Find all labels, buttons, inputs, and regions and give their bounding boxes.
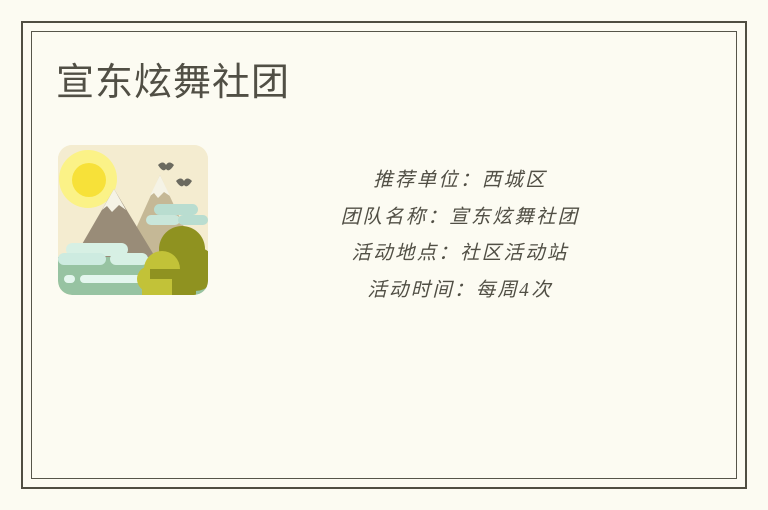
- page-title: 宣东炫舞社团: [56, 57, 290, 109]
- cloud-shape: [178, 215, 208, 225]
- cloud-shape: [146, 215, 180, 225]
- detail-recommending-unit: 推荐单位：西城区: [230, 163, 690, 200]
- mountain-landscape-illustration: [58, 145, 208, 295]
- foam-shape: [110, 253, 148, 265]
- detail-team-name: 团队名称：宣东炫舞社团: [230, 200, 690, 237]
- page-root: 宣东炫舞社团: [0, 0, 768, 510]
- landscape-illustration-svg: [58, 145, 208, 295]
- details-list: 推荐单位：西城区 团队名称：宣东炫舞社团 活动地点：社区活动站 活动时间：每周4…: [230, 163, 690, 309]
- detail-activity-time: 活动时间：每周4次: [230, 273, 690, 310]
- sun-core-shape: [72, 163, 106, 197]
- detail-activity-location: 活动地点：社区活动站: [230, 236, 690, 273]
- cloud-shape: [154, 204, 198, 215]
- bush-base-shape: [142, 279, 172, 295]
- foam-shape: [64, 275, 75, 283]
- foam-shape: [58, 253, 106, 265]
- content-row: 推荐单位：西城区 团队名称：宣东炫舞社团 活动地点：社区活动站 活动时间：每周4…: [58, 145, 698, 355]
